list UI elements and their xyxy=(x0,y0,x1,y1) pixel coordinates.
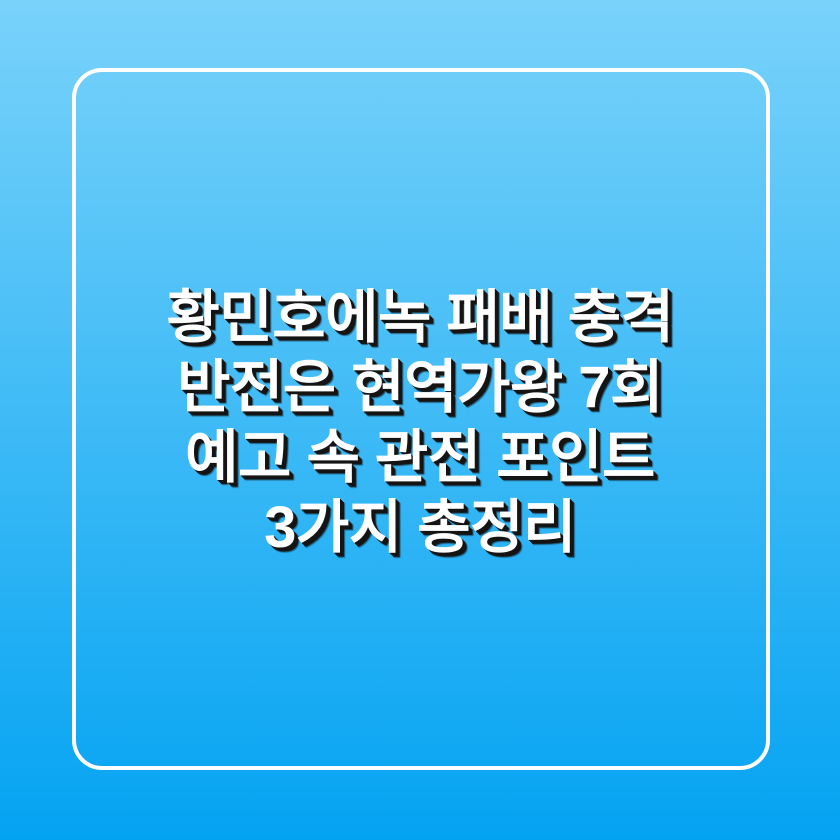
headline-line-3: 예고 속 관전 포인트 xyxy=(0,423,840,493)
headline-line-2: 반전은 현역가왕 7회 xyxy=(0,353,840,423)
thumbnail-card: 황민호에녹 패배 충격 반전은 현역가왕 7회 예고 속 관전 포인트 3가지 … xyxy=(0,0,840,840)
headline-text-block: 황민호에녹 패배 충격 반전은 현역가왕 7회 예고 속 관전 포인트 3가지 … xyxy=(0,0,840,840)
headline-line-1: 황민호에녹 패배 충격 xyxy=(0,283,840,353)
headline-line-4: 3가지 총정리 xyxy=(0,493,840,563)
